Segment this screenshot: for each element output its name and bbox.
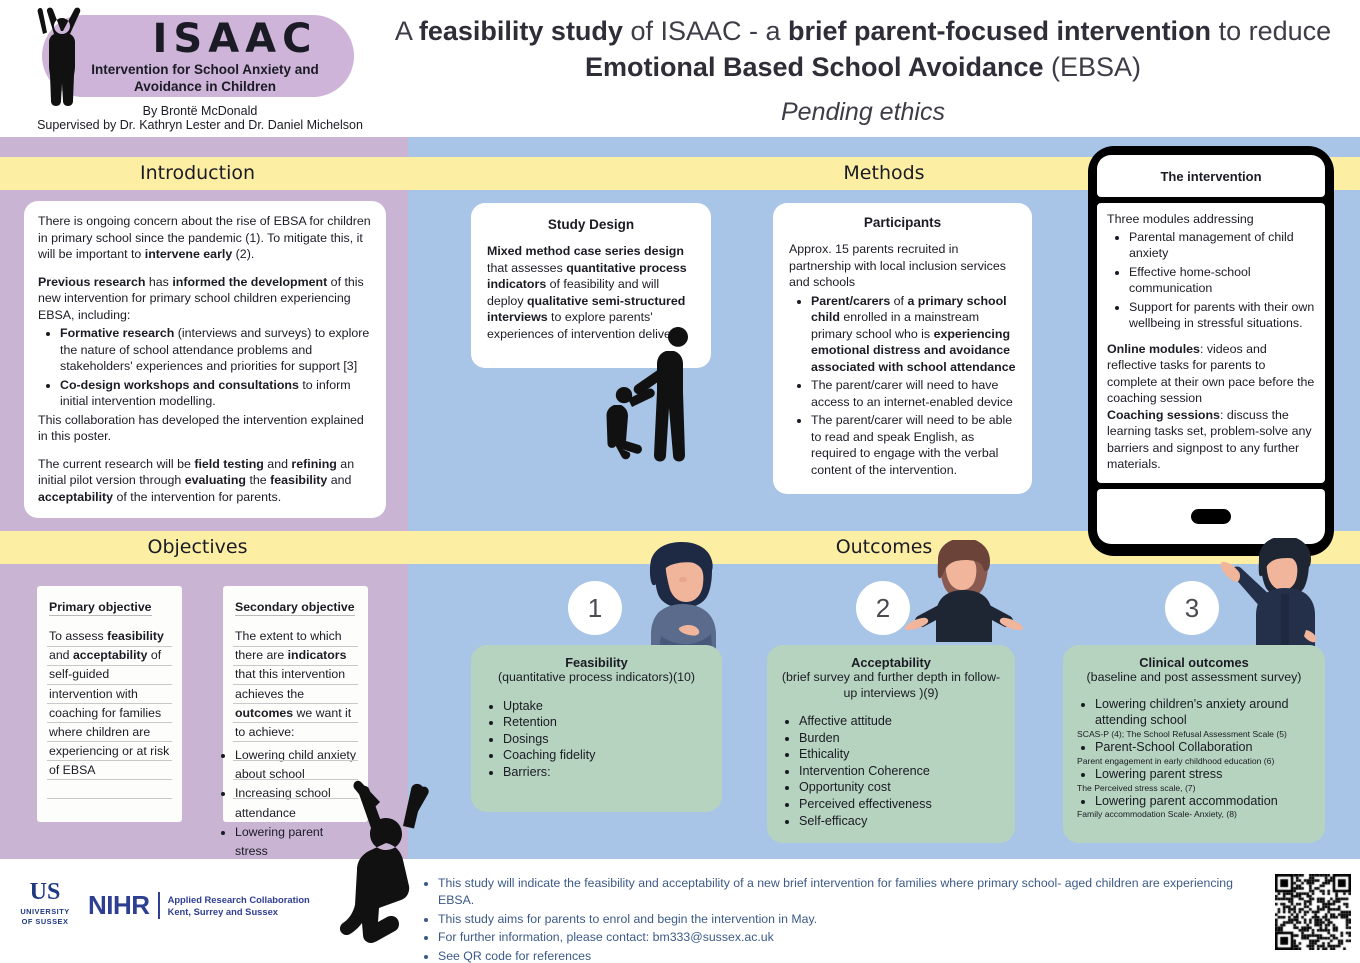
university-of-sussex-logo: US UNIVERSITY OF SUSSEX bbox=[14, 880, 76, 927]
outcome-subtitle: (baseline and post assessment survey) bbox=[1077, 670, 1311, 686]
list-item: See QR code for references bbox=[438, 948, 1254, 963]
outcome-title: Acceptability bbox=[781, 655, 1001, 670]
primary-objective-note: Primary objective To assess feasibility … bbox=[37, 586, 182, 822]
intervention-intro: Three modules addressing bbox=[1107, 211, 1315, 228]
outcome-item-list: UptakeRetentionDosingsCoaching fidelityB… bbox=[485, 698, 708, 781]
list-item: Self-efficacy bbox=[799, 813, 1001, 830]
participants-title: Participants bbox=[789, 215, 1016, 230]
list-item: Affective attitude bbox=[799, 713, 1001, 730]
participants-card: Participants Approx. 15 parents recruite… bbox=[773, 203, 1032, 494]
intro-paragraph-3: This collaboration has developed the int… bbox=[38, 412, 372, 445]
outcome-subtitle: (quantitative process indicators)(10) bbox=[485, 670, 708, 686]
list-item: Retention bbox=[503, 714, 708, 731]
list-item: Coaching fidelity bbox=[503, 747, 708, 764]
outcome-reference: SCAS-P (4); The School Refusal Assessmen… bbox=[1077, 729, 1311, 739]
list-item: Uptake bbox=[503, 698, 708, 715]
list-item: Co-design workshops and consultations to… bbox=[60, 377, 372, 410]
phone-screen: Three modules addressing Parental manage… bbox=[1097, 203, 1325, 483]
sussex-logo-line-2: OF SUSSEX bbox=[14, 917, 76, 927]
outcome-card-feasibility: Feasibility (quantitative process indica… bbox=[471, 645, 722, 812]
list-item: Perceived effectiveness bbox=[799, 796, 1001, 813]
outcome-reference: Parent engagement in early childhood edu… bbox=[1077, 756, 1311, 766]
list-item: Lowering children's anxiety around atten… bbox=[1095, 696, 1311, 729]
participants-bullet-list: Parent/carers of a primary school child … bbox=[803, 293, 1016, 479]
phone-top-bar: The intervention bbox=[1097, 155, 1325, 197]
list-item: For further information, please contact:… bbox=[438, 929, 1254, 946]
list-item: Opportunity cost bbox=[799, 779, 1001, 796]
intervention-coaching-sessions: Coaching sessions: discuss the learning … bbox=[1107, 407, 1315, 473]
list-item: The parent/carer will need to have acces… bbox=[811, 377, 1016, 410]
primary-objective-body: To assess feasibility and acceptability … bbox=[49, 627, 170, 780]
nihr-arc-logo: NIHR Applied Research Collaboration Kent… bbox=[88, 890, 310, 921]
outcome-card-acceptability: Acceptability (brief survey and further … bbox=[767, 645, 1015, 843]
participants-intro: Approx. 15 parents recruited in partners… bbox=[789, 241, 1016, 291]
list-item: The parent/carer will need to be able to… bbox=[811, 412, 1016, 478]
list-item: Barriers: bbox=[503, 764, 708, 781]
list-item: Parental management of child anxiety bbox=[1129, 229, 1315, 262]
qr-code-references[interactable] bbox=[1275, 874, 1351, 950]
list-item: Dosings bbox=[503, 731, 708, 748]
sussex-monogram: US bbox=[14, 880, 76, 904]
phone-bottom-bar bbox=[1097, 489, 1325, 544]
nihr-logo-line-1: Applied Research Collaboration bbox=[168, 894, 310, 906]
parent-swinging-child-silhouette-icon bbox=[566, 315, 716, 490]
intro-paragraph-4: The current research will be field testi… bbox=[38, 456, 372, 506]
primary-objective-title: Primary objective bbox=[49, 600, 152, 616]
intro-paragraph-1: There is ongoing concern about the rise … bbox=[38, 213, 372, 263]
list-item: Lowering child anxiety about school bbox=[235, 746, 356, 784]
list-item: This study will indicate the feasibility… bbox=[438, 875, 1254, 910]
intervention-phone-mockup: The intervention Three modules addressin… bbox=[1088, 146, 1334, 556]
outcome-title: Feasibility bbox=[485, 655, 708, 670]
poster-supervisors: Supervised by Dr. Kathryn Lester and Dr.… bbox=[0, 118, 400, 132]
list-item: Parent/carers of a primary school child … bbox=[811, 293, 1016, 376]
list-item: Formative research (interviews and surve… bbox=[60, 325, 372, 375]
list-item: This study aims for parents to enrol and… bbox=[438, 911, 1254, 928]
intro-paragraph-2: Previous research has informed the devel… bbox=[38, 274, 372, 324]
list-item: Parent-School Collaboration bbox=[1095, 739, 1311, 756]
outcome-title: Clinical outcomes bbox=[1077, 655, 1311, 670]
intro-bullet-list: Formative research (interviews and surve… bbox=[52, 325, 372, 410]
list-item: Intervention Coherence bbox=[799, 763, 1001, 780]
list-item: Effective home-school communication bbox=[1129, 264, 1315, 297]
list-item: Lowering parent stress bbox=[1095, 766, 1311, 783]
list-item: Ethicality bbox=[799, 746, 1001, 763]
intervention-online-modules: Online modules: videos and reflective ta… bbox=[1107, 341, 1315, 407]
poster-root: ISAAC Intervention for School Anxiety an… bbox=[0, 0, 1360, 963]
list-item: Lowering parent accommodation bbox=[1095, 793, 1311, 810]
nihr-logo-line-2: Kent, Surrey and Sussex bbox=[168, 906, 310, 918]
poster-header: ISAAC Intervention for School Anxiety an… bbox=[0, 0, 1360, 137]
intervention-module-list: Parental management of child anxietyEffe… bbox=[1121, 229, 1315, 332]
introduction-card: There is ongoing concern about the rise … bbox=[24, 201, 386, 518]
secondary-objective-body: The extent to which there are indicators… bbox=[235, 627, 356, 742]
outcome-card-clinical-outcomes: Clinical outcomes (baseline and post ass… bbox=[1063, 645, 1325, 843]
footer-summary-bullets: This study will indicate the feasibility… bbox=[424, 875, 1254, 963]
nihr-divider bbox=[158, 892, 160, 919]
footer-bullet-list: This study will indicate the feasibility… bbox=[424, 875, 1254, 963]
list-item: Burden bbox=[799, 730, 1001, 747]
nihr-wordmark: NIHR bbox=[88, 890, 150, 921]
outcome-number-3: 3 bbox=[1165, 581, 1219, 635]
page-subtitle: Pending ethics bbox=[378, 98, 1348, 127]
outcome-reference: The Perceived stress scale, (7) bbox=[1077, 783, 1311, 793]
list-item: Support for parents with their own wellb… bbox=[1129, 299, 1315, 332]
secondary-objective-title: Secondary objective bbox=[235, 600, 355, 616]
page-title: A feasibility study of ISAAC - a brief p… bbox=[378, 14, 1348, 85]
isaac-acronym: ISAAC bbox=[110, 16, 360, 62]
person-shrugging-illustration bbox=[900, 540, 1028, 660]
section-heading-objectives: Objectives bbox=[0, 536, 395, 558]
outcome-reference: Family accommodation Scale- Anxiety, (8) bbox=[1077, 809, 1311, 819]
phone-home-button-icon[interactable] bbox=[1191, 509, 1231, 524]
study-design-title: Study Design bbox=[487, 217, 695, 232]
section-heading-introduction: Introduction bbox=[0, 162, 395, 184]
outcome-item-list-with-refs: Lowering children's anxiety around atten… bbox=[1077, 696, 1311, 820]
intervention-title: The intervention bbox=[1160, 169, 1261, 184]
sussex-logo-line-1: UNIVERSITY bbox=[14, 907, 76, 917]
outcome-item-list: Affective attitudeBurdenEthicalityInterv… bbox=[781, 713, 1001, 829]
outcome-subtitle: (brief survey and further depth in follo… bbox=[781, 670, 1001, 701]
isaac-expansion: Intervention for School Anxiety and Avoi… bbox=[62, 62, 348, 96]
outcome-number-1: 1 bbox=[568, 581, 622, 635]
